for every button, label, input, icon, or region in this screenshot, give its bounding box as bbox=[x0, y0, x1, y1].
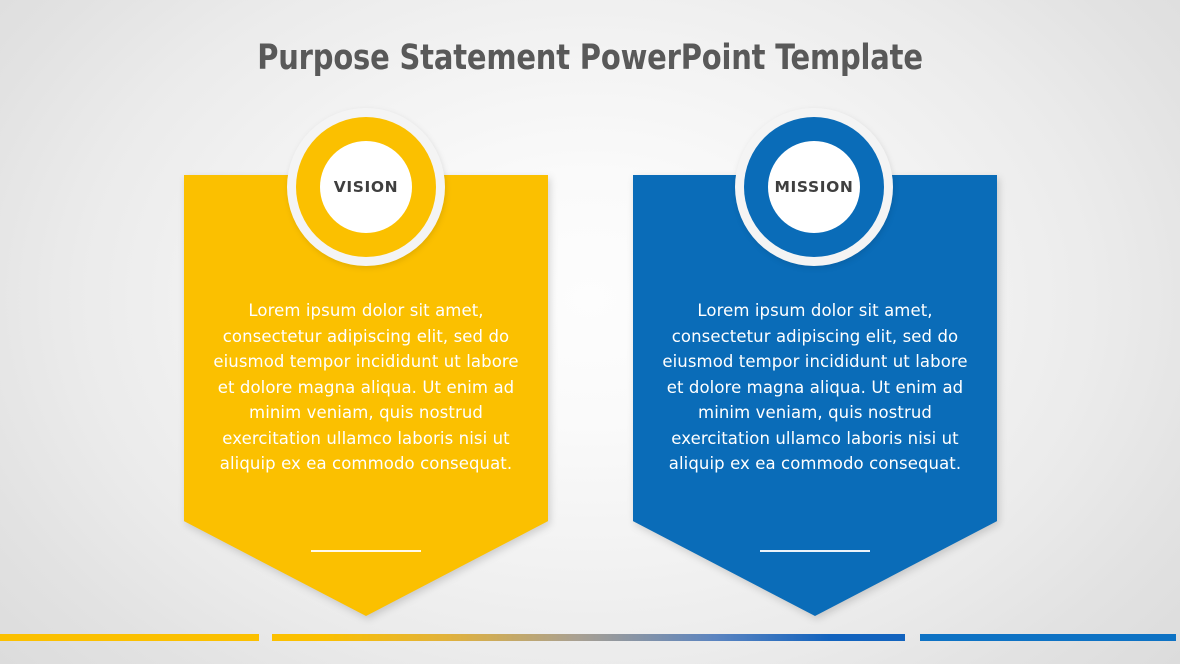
mission-badge[interactable]: MISSION bbox=[735, 108, 893, 266]
mission-divider-rule bbox=[760, 550, 870, 552]
mission-badge-label: MISSION bbox=[775, 178, 854, 196]
vision-body-text: Lorem ipsum dolor sit amet, consectetur … bbox=[212, 298, 520, 477]
mission-ring-icon: MISSION bbox=[744, 117, 884, 257]
vision-badge-label: VISION bbox=[334, 178, 398, 196]
left-accent-bar bbox=[0, 634, 259, 641]
mission-ring-hole: MISSION bbox=[768, 141, 860, 233]
mission-body-text: Lorem ipsum dolor sit amet, consectetur … bbox=[661, 298, 969, 477]
vision-ring-hole: VISION bbox=[320, 141, 412, 233]
slide-canvas: Purpose Statement PowerPoint Template Lo… bbox=[0, 0, 1180, 664]
vision-ring-icon: VISION bbox=[296, 117, 436, 257]
page-title: Purpose Statement PowerPoint Template bbox=[47, 38, 1133, 78]
vision-divider-rule bbox=[311, 550, 421, 552]
right-accent-bar bbox=[920, 634, 1176, 641]
vision-badge[interactable]: VISION bbox=[287, 108, 445, 266]
center-gradient-bar bbox=[272, 634, 905, 641]
